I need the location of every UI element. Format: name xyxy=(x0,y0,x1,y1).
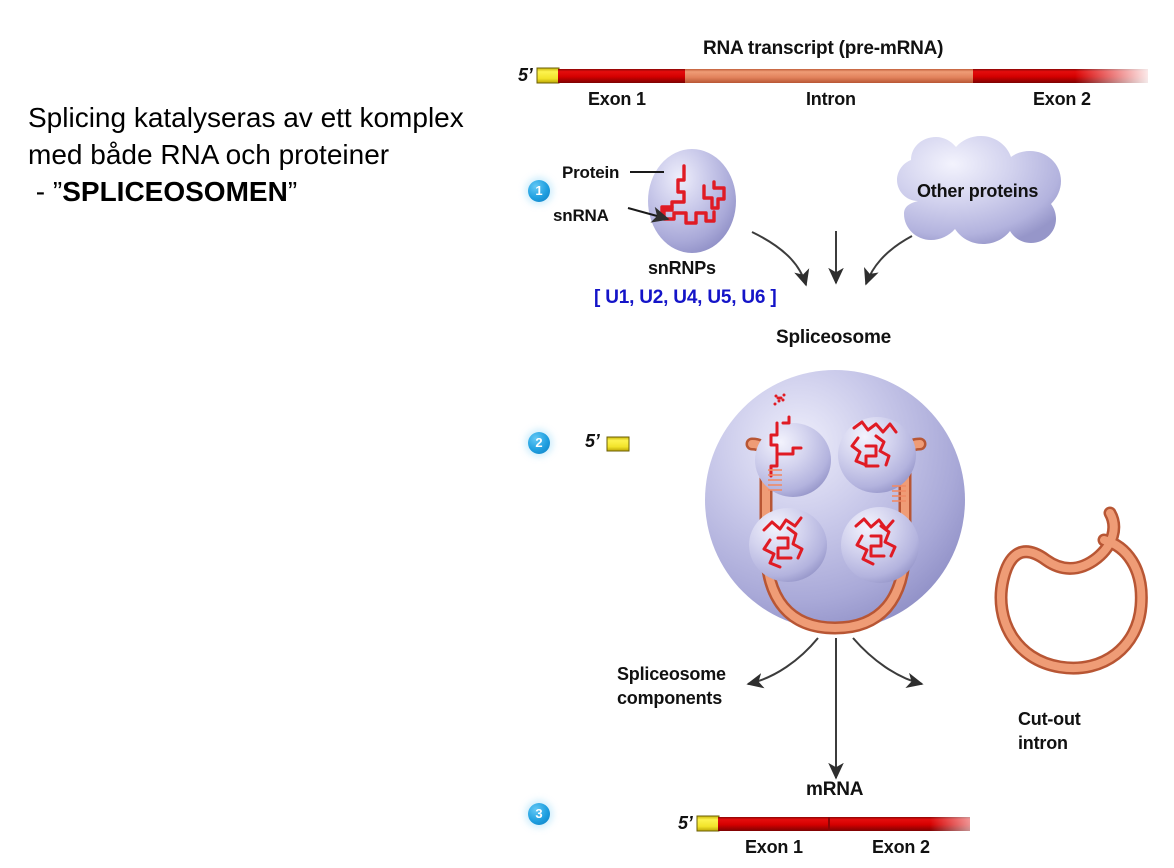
step-badge-3: 3 xyxy=(528,803,550,825)
exon1-label-bottom: Exon 1 xyxy=(745,837,803,858)
converging-arrows xyxy=(752,231,912,285)
spliceosome-label: Spliceosome xyxy=(776,327,891,349)
step-badge-2: 2 xyxy=(528,432,550,454)
cutout-intron-label-line1: Cut-out xyxy=(1018,709,1081,730)
other-proteins-label: Other proteins xyxy=(917,181,1038,202)
mature-mrna-bar xyxy=(697,815,1000,833)
spliceosome-components-label-line2: components xyxy=(617,688,722,709)
five-prime-label-step2: 5’ xyxy=(585,431,600,452)
spliceosome-components-label-line1: Spliceosome xyxy=(617,664,726,685)
snrnps-caption: snRNPs xyxy=(648,258,716,279)
intron-label-top: Intron xyxy=(806,89,856,110)
transcript-title: RNA transcript (pre-mRNA) xyxy=(703,38,943,60)
protein-label: Protein xyxy=(562,163,619,183)
five-prime-label-top: 5’ xyxy=(518,65,533,86)
cutout-intron-lariat xyxy=(1001,513,1141,668)
exon2-label-bottom: Exon 2 xyxy=(872,837,930,858)
exon1-label-top: Exon 1 xyxy=(588,89,646,110)
snrnp-subunits-label: [ U1, U2, U4, U5, U6 ] xyxy=(594,287,776,309)
pre-mrna-transcript-bar xyxy=(537,67,1155,85)
exon2-label-top: Exon 2 xyxy=(1033,89,1091,110)
step-badge-1: 1 xyxy=(528,180,550,202)
spliceosome-complex xyxy=(607,370,1045,630)
splicing-diagram: RNA transcript (pre-mRNA) 5’ Exon 1 Intr… xyxy=(0,0,1174,868)
five-prime-label-bottom: 5’ xyxy=(678,813,693,834)
mrna-label: mRNA xyxy=(806,779,863,801)
cutout-intron-label-line2: intron xyxy=(1018,733,1068,754)
snrnp-particle xyxy=(628,149,736,253)
snrna-label: snRNA xyxy=(553,206,609,226)
output-arrows xyxy=(748,638,922,778)
